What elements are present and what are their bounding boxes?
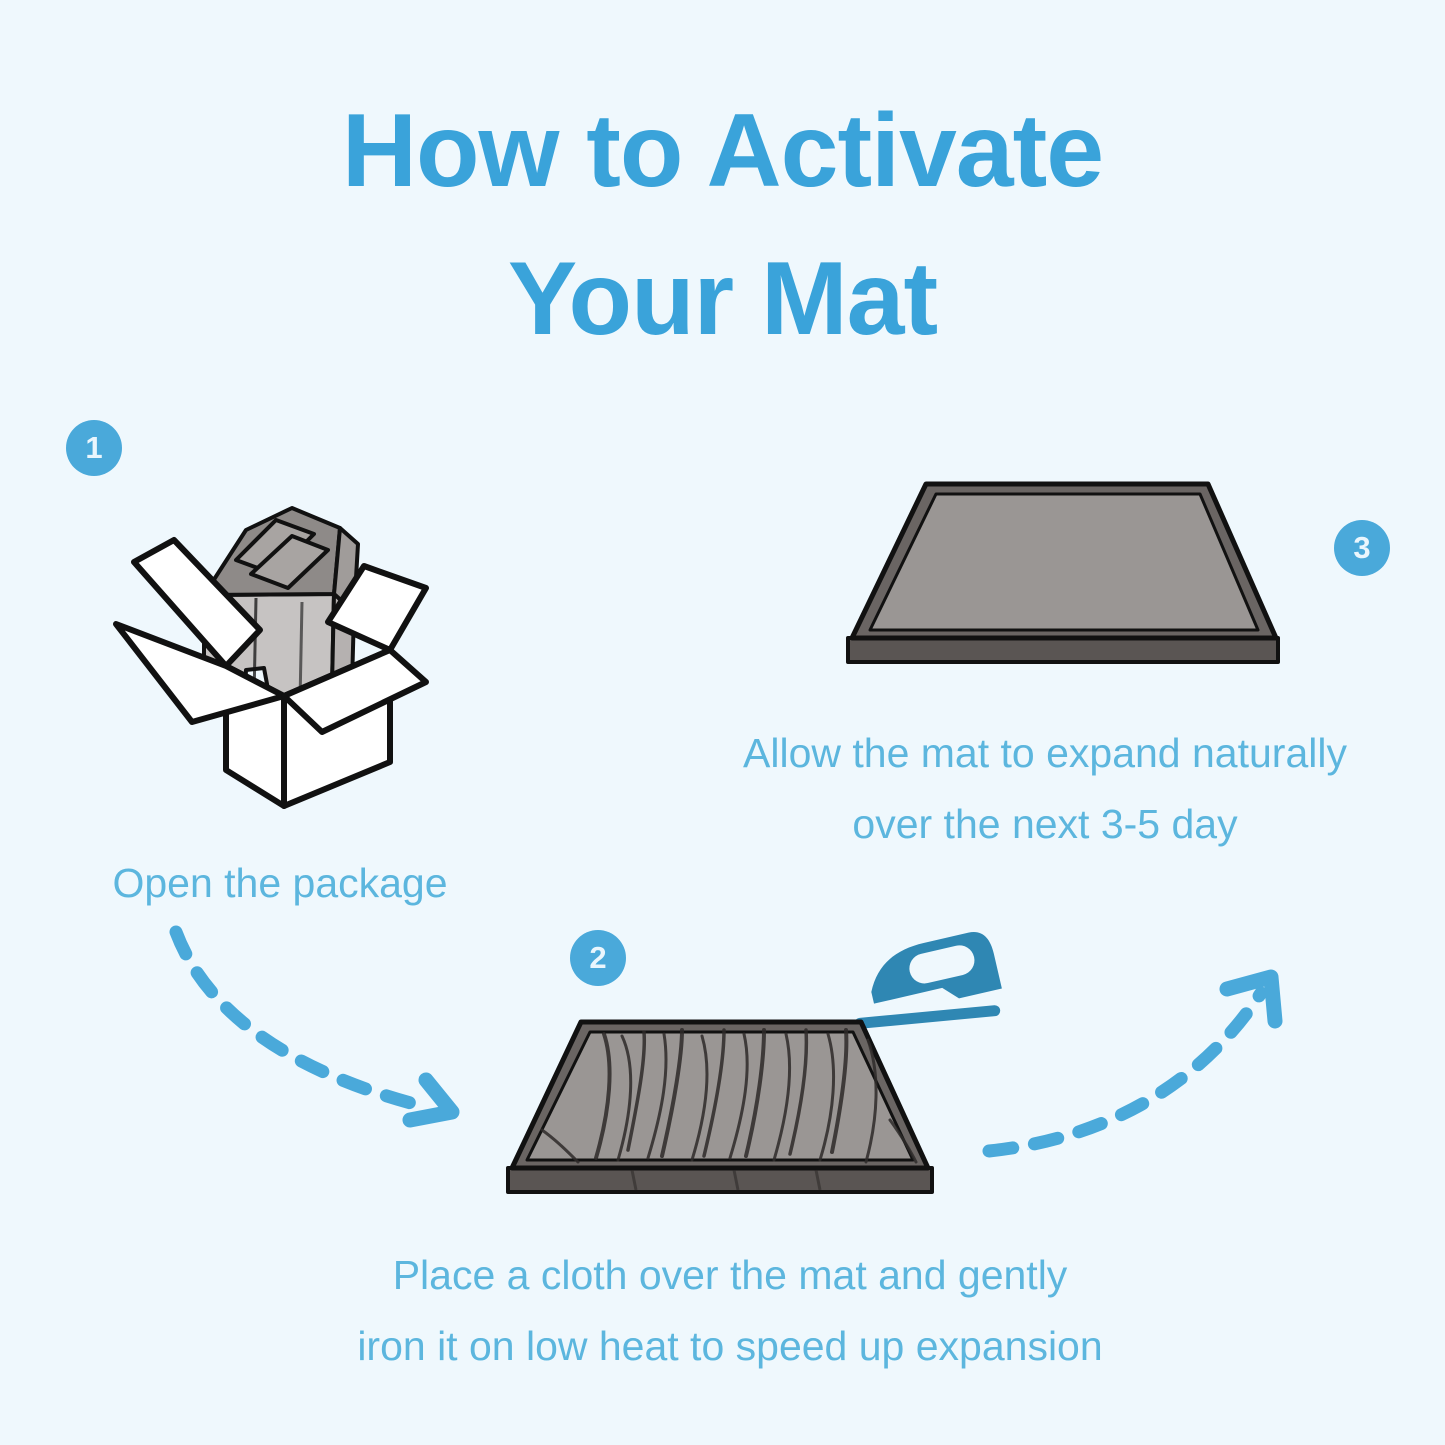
step-badge-1: 1 [66,420,122,476]
step-badge-3: 3 [1334,520,1390,576]
step-2-caption-line-1: Place a cloth over the mat and gently [240,1240,1220,1311]
step-badge-2: 2 [570,930,626,986]
infographic-canvas: How to Activate Your Mat 1 [0,0,1445,1445]
open-package-illustration [96,470,476,820]
step-1-caption-line-1: Open the package [20,848,540,919]
dashed-curve-arrow-down-right-icon [160,920,490,1135]
flat-expanded-mat-icon [826,466,1296,681]
page-title: How to Activate Your Mat [0,78,1445,373]
step-3-caption: Allow the mat to expand naturally over t… [660,718,1430,859]
mat-with-cloth-illustration [486,1000,956,1225]
dashed-curve-arrow-up-right-icon [975,955,1300,1170]
arrow-step2-to-step3 [975,955,1300,1170]
step-1-caption: Open the package [20,848,540,919]
cardboard-box-icon [96,470,476,820]
arrow-step1-to-step2 [160,920,490,1135]
mat-covered-with-cloth-icon [486,1000,956,1225]
page-title-line-2: Your Mat [0,226,1445,374]
page-title-line-1: How to Activate [0,78,1445,226]
expanded-mat-illustration [826,466,1296,681]
step-3-caption-line-2: over the next 3-5 day [660,789,1430,860]
step-3-caption-line-1: Allow the mat to expand naturally [660,718,1430,789]
step-2-caption: Place a cloth over the mat and gently ir… [240,1240,1220,1381]
step-2-caption-line-2: iron it on low heat to speed up expansio… [240,1311,1220,1382]
